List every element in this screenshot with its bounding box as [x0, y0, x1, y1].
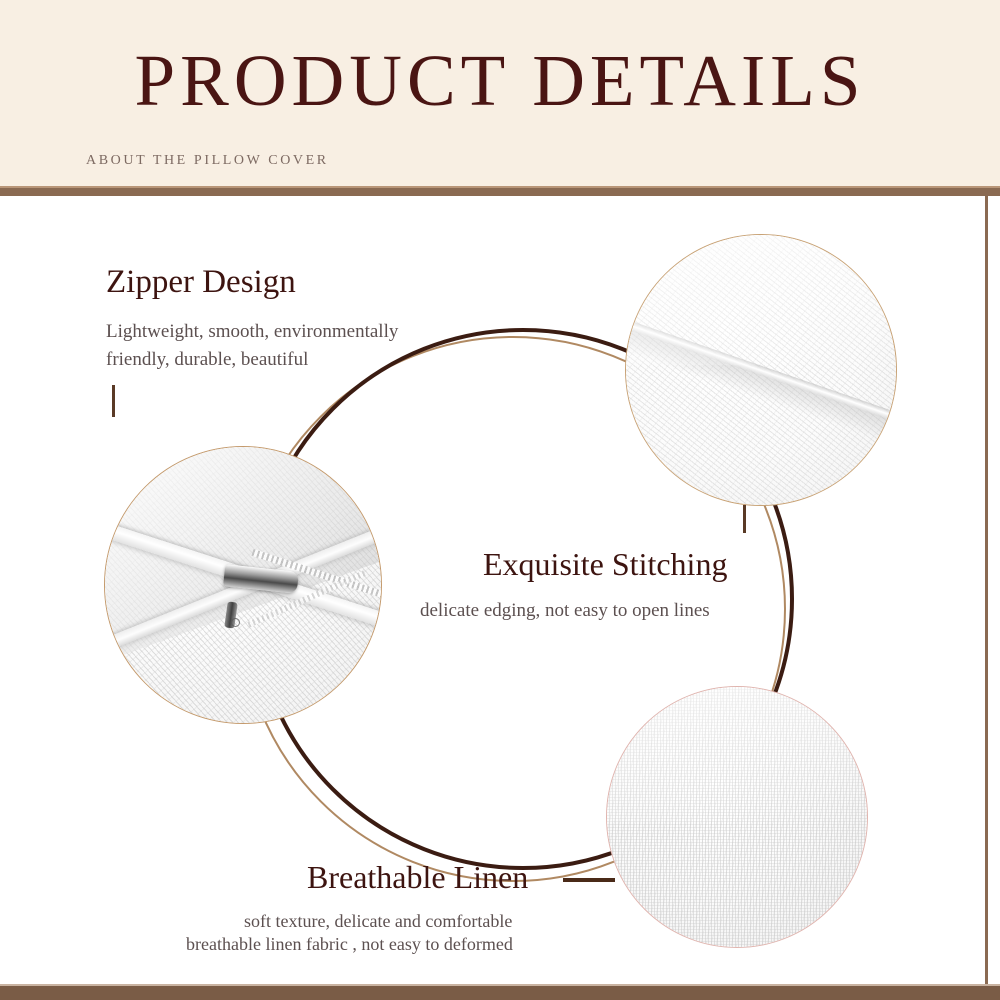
linen-feature-title: Breathable Linen	[307, 861, 528, 893]
linen-highlight	[606, 686, 868, 822]
linen-feature-description-line-2: breathable linen fabric , not easy to de…	[186, 931, 513, 957]
stitching-closeup-photo	[625, 234, 897, 506]
page-title: PRODUCT DETAILS	[0, 44, 1000, 117]
header-divider	[0, 188, 1000, 196]
zipper-closeup-photo	[104, 446, 382, 724]
linen-fabric-photo	[606, 686, 868, 948]
frame-right-border	[985, 196, 988, 986]
stitching-tick-mark	[743, 505, 746, 533]
stitching-feature-description: delicate edging, not easy to open lines	[420, 597, 710, 625]
zipper-tick-mark	[112, 385, 115, 417]
page-subtitle: ABOUT THE PILLOW COVER	[86, 153, 329, 169]
frame-bottom-border	[0, 986, 1000, 1000]
zipper-feature-description: Lightweight, smooth, environmentally fri…	[106, 318, 398, 373]
product-details-infographic: PRODUCT DETAILS ABOUT THE PILLOW COVER	[0, 0, 1000, 1000]
header-banner: PRODUCT DETAILS ABOUT THE PILLOW COVER	[0, 0, 1000, 188]
linen-connector-dash	[563, 878, 615, 882]
zipper-feature-title: Zipper Design	[106, 266, 296, 299]
zipper-pull-ring	[231, 618, 240, 627]
stitching-feature-title: Exquisite Stitching	[483, 548, 727, 580]
stitching-highlight	[625, 234, 897, 365]
zipper-description-line-1: Lightweight, smooth, environmentally	[106, 318, 398, 346]
zipper-description-line-2: friendly, durable, beautiful	[106, 346, 398, 374]
